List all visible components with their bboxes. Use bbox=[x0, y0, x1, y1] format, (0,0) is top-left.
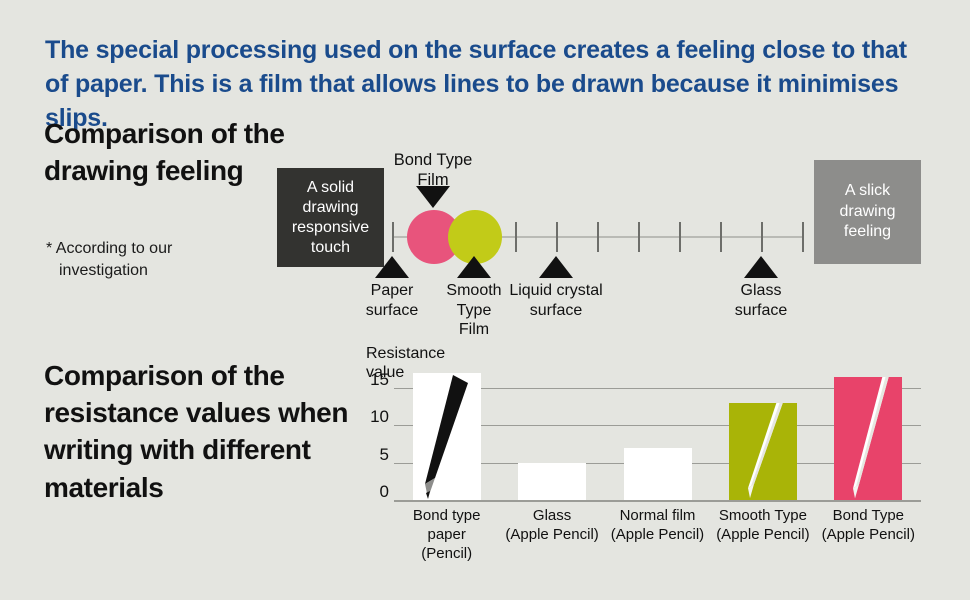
scale-tick bbox=[597, 222, 599, 252]
chart-plot-area: 051015 bbox=[394, 358, 921, 500]
scale-tick bbox=[720, 222, 722, 252]
chart-y-tick-label: 10 bbox=[370, 408, 389, 425]
chart-x-tick-label: Bond type paper (Pencil) bbox=[394, 507, 499, 563]
chart-bar bbox=[729, 403, 797, 500]
note-line-2: investigation bbox=[46, 260, 276, 282]
chart-x-axis-labels: Bond type paper (Pencil)Glass (Apple Pen… bbox=[394, 507, 921, 557]
slick-feeling-callout-label: A slick drawing feeling bbox=[816, 181, 919, 243]
scale-tick bbox=[679, 222, 681, 252]
chart-gridline: 0 bbox=[394, 500, 921, 501]
resistance-bar-chart: Resistance value 051015 Bond type paper … bbox=[366, 344, 921, 559]
section-drawing-feeling-title: Comparison of the drawing feeling bbox=[44, 115, 294, 189]
chart-bar bbox=[413, 373, 481, 500]
scale-tick bbox=[802, 222, 804, 252]
chart-y-tick-label: 0 bbox=[380, 483, 389, 500]
scale-marker-up-triangle-icon bbox=[539, 256, 573, 278]
chart-x-tick-label: Smooth Type (Apple Pencil) bbox=[710, 507, 815, 545]
slick-feeling-callout-box: A slick drawing feeling bbox=[814, 160, 921, 264]
scale-tick bbox=[638, 222, 640, 252]
chart-x-tick-label: Normal film (Apple Pencil) bbox=[605, 507, 710, 545]
chart-x-tick-label: Bond Type (Apple Pencil) bbox=[816, 507, 921, 545]
scale-marker-up-triangle-icon bbox=[744, 256, 778, 278]
scale-tick bbox=[761, 222, 763, 252]
note-line-1: * According to our bbox=[46, 240, 172, 257]
section-resistance-title: Comparison of the resistance values when… bbox=[44, 357, 354, 506]
scale-label-bottom: Glass surface bbox=[686, 281, 836, 320]
scale-tick bbox=[556, 222, 558, 252]
chart-y-tick-label: 5 bbox=[380, 446, 389, 463]
pencil-icon bbox=[413, 373, 481, 500]
apple-pencil-icon bbox=[729, 403, 797, 500]
scale-marker-up-triangle-icon bbox=[375, 256, 409, 278]
drawing-feeling-scale: Bond Type Film Paper surfaceSmooth Type … bbox=[384, 150, 809, 330]
scale-label-top: Bond Type Film bbox=[363, 150, 503, 190]
apple-pencil-icon bbox=[834, 377, 902, 500]
chart-bar bbox=[518, 463, 586, 500]
scale-marker-up-triangle-icon bbox=[457, 256, 491, 278]
infographic-page: The special processing used on the surfa… bbox=[0, 0, 970, 600]
chart-bar bbox=[834, 377, 902, 500]
chart-bar bbox=[624, 448, 692, 500]
scale-tick bbox=[515, 222, 517, 252]
chart-y-tick-label: 15 bbox=[370, 371, 389, 388]
scale-label-bottom: Liquid crystal surface bbox=[481, 281, 631, 320]
chart-x-tick-label: Glass (Apple Pencil) bbox=[499, 507, 604, 545]
scale-tick bbox=[392, 222, 394, 252]
section-drawing-feeling-note: * According to our investigation bbox=[46, 238, 276, 282]
